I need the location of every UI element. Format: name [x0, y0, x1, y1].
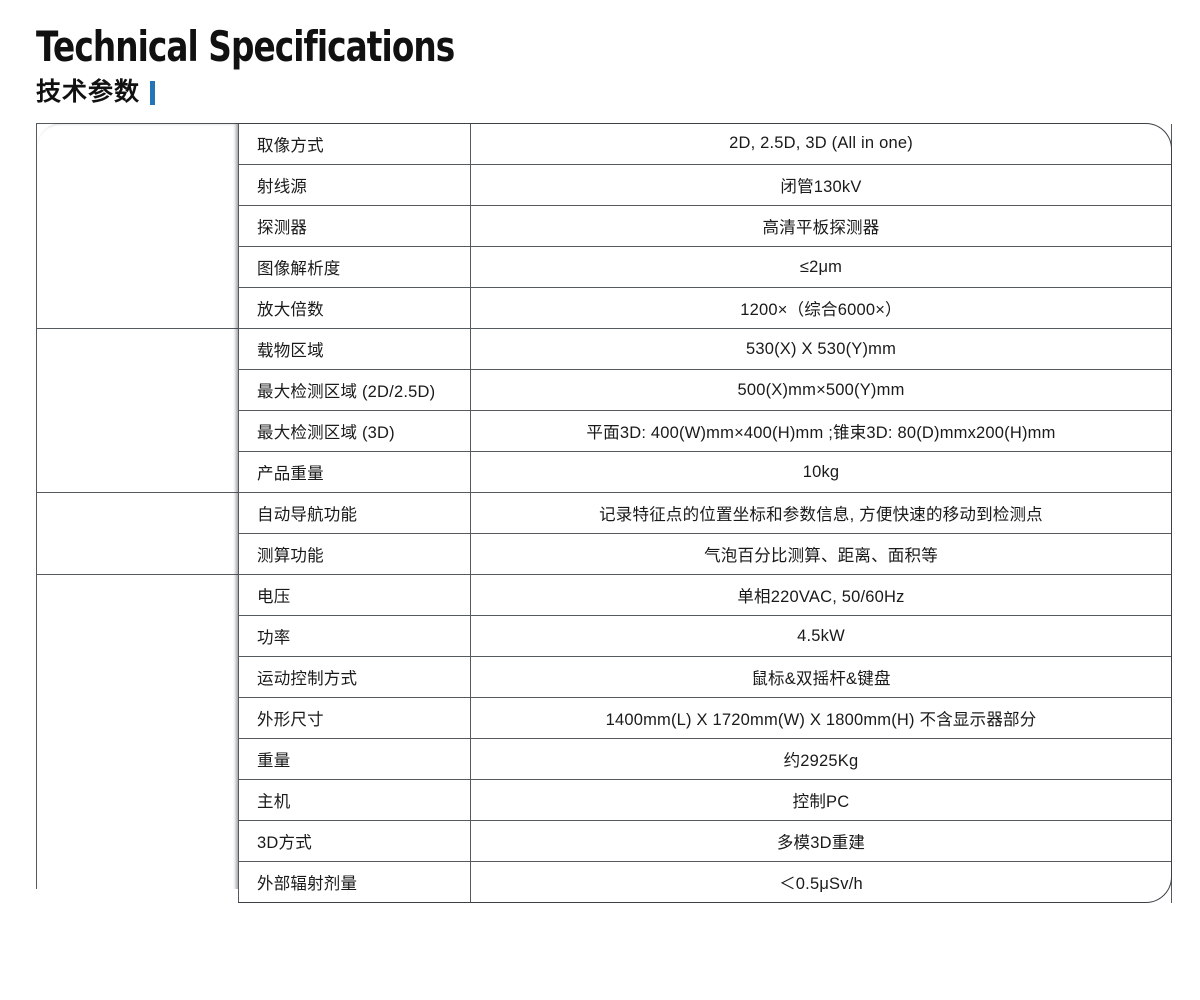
parameter-name-cell: 功率 — [239, 616, 471, 657]
table-row: 设备主体电压单相220VAC, 50/60Hz — [37, 575, 1172, 616]
parameter-value-cell: 500(X)mm×500(Y)mm — [471, 370, 1172, 411]
parameter-name-cell: 探测器 — [239, 206, 471, 247]
parameter-value-cell: 2D, 2.5D, 3D (All in one) — [471, 124, 1172, 165]
table-row: 软件系统自动导航功能记录特征点的位置坐标和参数信息, 方便快速的移动到检测点 — [37, 493, 1172, 534]
parameter-value-cell: 4.5kW — [471, 616, 1172, 657]
parameter-value-cell: 10kg — [471, 452, 1172, 493]
parameter-value-cell: 鼠标&双摇杆&键盘 — [471, 657, 1172, 698]
specifications-table-wrapper: X摄像系统取像方式2D, 2.5D, 3D (All in one)射线源闭管1… — [36, 123, 1172, 903]
section-header-label: 软件系统 — [37, 521, 238, 546]
parameter-name-cell: 3D方式 — [239, 821, 471, 862]
parameter-name-cell: 外形尺寸 — [239, 698, 471, 739]
parameter-value-cell: 约2925Kg — [471, 739, 1172, 780]
section-header-label: 载物台 — [37, 398, 238, 423]
parameter-name-cell: 主机 — [239, 780, 471, 821]
parameter-value-cell: ≤2μm — [471, 247, 1172, 288]
page-subtitle-group: 技术参数 — [36, 80, 1200, 105]
parameter-value-cell: 1200×（综合6000×） — [471, 288, 1172, 329]
parameter-value-cell: 单相220VAC, 50/60Hz — [471, 575, 1172, 616]
parameter-name-cell: 取像方式 — [239, 124, 471, 165]
parameter-name-cell: 重量 — [239, 739, 471, 780]
parameter-value-cell: ＜0.5μSv/h — [471, 862, 1172, 903]
parameter-value-cell: 闭管130kV — [471, 165, 1172, 206]
parameter-name-cell: 射线源 — [239, 165, 471, 206]
section-header-cell: X摄像系统 — [37, 124, 239, 329]
parameter-name-cell: 自动导航功能 — [239, 493, 471, 534]
parameter-name-cell: 载物区域 — [239, 329, 471, 370]
table-row: X摄像系统取像方式2D, 2.5D, 3D (All in one) — [37, 124, 1172, 165]
section-header-label: X摄像系统 — [37, 214, 238, 239]
parameter-value-cell: 高清平板探测器 — [471, 206, 1172, 247]
parameter-value-cell: 平面3D: 400(W)mm×400(H)mm ;锥束3D: 80(D)mmx2… — [471, 411, 1172, 452]
parameter-value-cell: 气泡百分比测算、距离、面积等 — [471, 534, 1172, 575]
parameter-name-cell: 最大检测区域 (3D) — [239, 411, 471, 452]
page-title-english: Technical Specifications — [36, 26, 944, 68]
section-header-cell: 载物台 — [37, 329, 239, 493]
parameter-name-cell: 产品重量 — [239, 452, 471, 493]
parameter-name-cell: 放大倍数 — [239, 288, 471, 329]
parameter-name-cell: 最大检测区域 (2D/2.5D) — [239, 370, 471, 411]
parameter-name-cell: 外部辐射剂量 — [239, 862, 471, 903]
section-header-cell: 设备主体 — [37, 575, 239, 903]
parameter-value-cell: 控制PC — [471, 780, 1172, 821]
parameter-value-cell: 多模3D重建 — [471, 821, 1172, 862]
specifications-page: Technical Specifications 技术参数 X摄像系统取像方式2… — [0, 0, 1200, 1000]
parameter-value-cell: 记录特征点的位置坐标和参数信息, 方便快速的移动到检测点 — [471, 493, 1172, 534]
section-header-label: 设备主体 — [37, 726, 238, 751]
parameter-name-cell: 运动控制方式 — [239, 657, 471, 698]
specifications-table: X摄像系统取像方式2D, 2.5D, 3D (All in one)射线源闭管1… — [36, 123, 1172, 903]
section-header-cell: 软件系统 — [37, 493, 239, 575]
parameter-name-cell: 测算功能 — [239, 534, 471, 575]
parameter-value-cell: 1400mm(L) X 1720mm(W) X 1800mm(H) 不含显示器部… — [471, 698, 1172, 739]
parameter-name-cell: 图像解析度 — [239, 247, 471, 288]
parameter-value-cell: 530(X) X 530(Y)mm — [471, 329, 1172, 370]
parameter-name-cell: 电压 — [239, 575, 471, 616]
page-title-chinese: 技术参数 — [36, 80, 140, 105]
accent-bar-icon — [150, 81, 155, 105]
page-header: Technical Specifications 技术参数 — [0, 0, 1200, 105]
table-row: 载物台载物区域530(X) X 530(Y)mm — [37, 329, 1172, 370]
